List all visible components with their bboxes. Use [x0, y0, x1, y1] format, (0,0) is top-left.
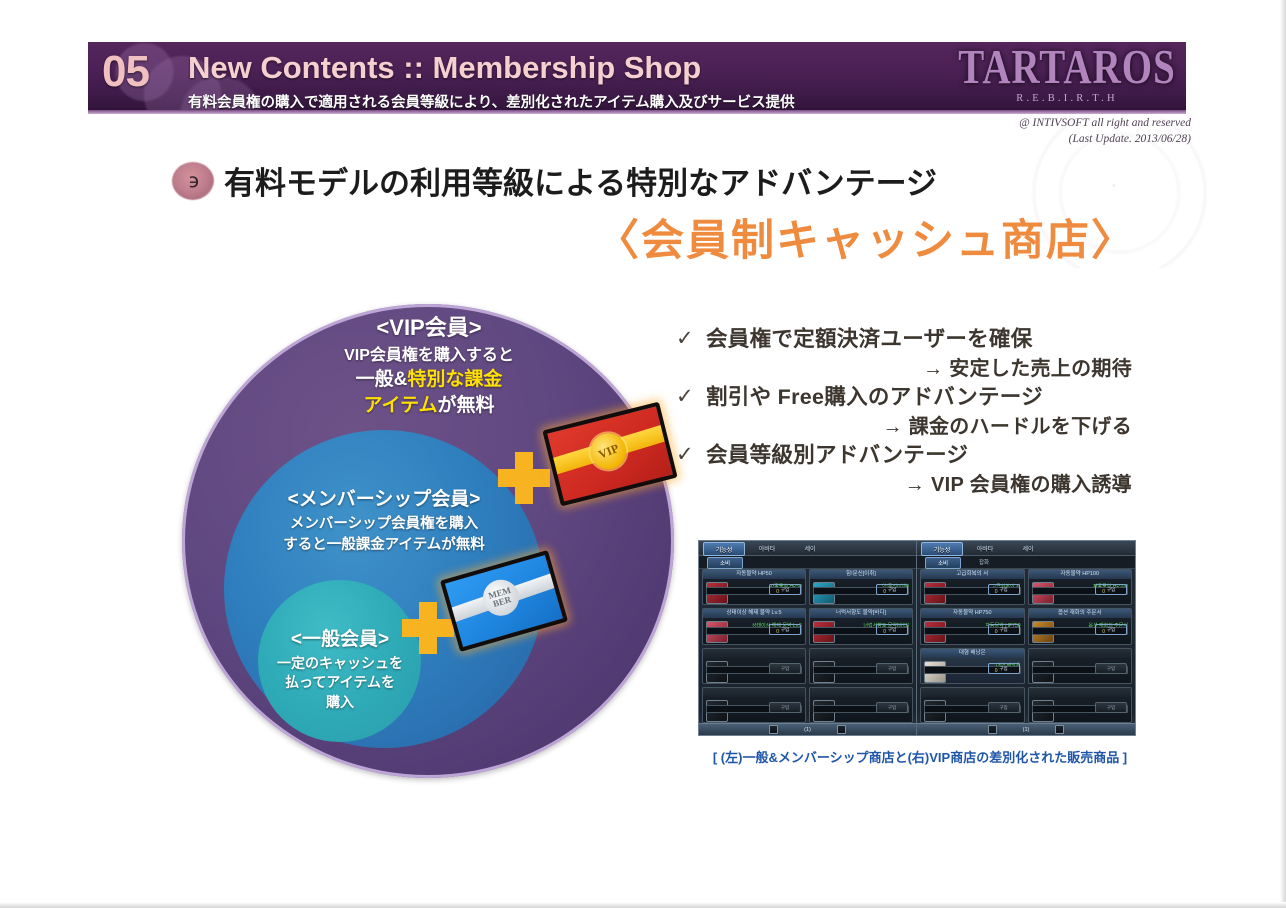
section-subheading: 〈会員制キャッシュ商店〉 — [596, 206, 1136, 268]
shop-item-title: 자동물약 HP100 — [1029, 570, 1132, 579]
membership-tier-title: <メンバーシップ会員> — [228, 488, 540, 513]
general-tier-line1: 一定のキャッシュを — [242, 654, 438, 672]
shop-item-buy-button[interactable]: 구입 — [769, 702, 801, 713]
benefit-item: ✓ 会員等級別アドバンテージ — [676, 442, 1146, 470]
shop-item-cell[interactable]: 힘!문신[이취] 힘!문신[이취] 0 구입 — [809, 569, 913, 605]
shop-item-title — [810, 649, 912, 658]
check-icon: ✓ — [676, 326, 706, 352]
general-tier-text: <一般会員> 一定のキャッシュを 払ってアイテムを 購入 — [242, 628, 438, 711]
next-page-button[interactable] — [1055, 725, 1064, 734]
tab-function-right[interactable]: 기능성 — [921, 542, 963, 556]
shop-item-buy-button[interactable]: 구입 — [988, 702, 1020, 713]
shop-item-cell[interactable]: 0 구입 — [809, 648, 913, 684]
tab-avatar-right[interactable]: 아바타 — [967, 542, 1003, 554]
shop-item-cell[interactable]: 옵션 재화의 주문서 옵션 재화의 주문서 0 구입 — [1028, 608, 1133, 644]
shop-item-cell[interactable]: 너럭서향도 물약[바디] 너럭서향도 물약[바디] 0 구입 — [809, 608, 913, 644]
shop-item-cell[interactable]: 0 구입 — [920, 687, 1025, 723]
slide-number: 05 — [102, 47, 149, 97]
shop-tab-row-right: 기능성 아바타 세이 — [917, 541, 1135, 556]
slide-header-bar: 05 New Contents :: Membership Shop 有料会員権… — [88, 42, 1186, 114]
logo-wordmark: TARTAROS — [958, 46, 1176, 90]
shop-pager-left: (1) — [699, 723, 916, 735]
membership-card-seal-icon: MEM BER — [479, 575, 524, 620]
benefit-text: 会員等級別アドバンテージ — [706, 442, 968, 470]
shop-item-title: 너럭서향도 물약[바디] — [810, 609, 912, 618]
tab-function-left[interactable]: 기능성 — [703, 542, 745, 556]
shop-item-buy-button[interactable]: 구입 — [1095, 663, 1127, 674]
prev-page-button[interactable] — [769, 725, 778, 734]
shop-item-cell[interactable]: 0 구입 — [1028, 648, 1133, 684]
screenshot-caption: [ (左)一般&メンバーシップ商店と(右)VIP商店の差別化された販売商品 ] — [690, 747, 1150, 766]
shop-pane-vip: 기능성 아바타 세이 소비 잡화 고급회복의 서 고급회복의 서 0 구입 자동… — [917, 541, 1135, 735]
shop-item-title — [1029, 649, 1132, 658]
page-title: New Contents :: Membership Shop — [188, 50, 701, 86]
membership-tier-line2: すると一般課金アイテムが無料 — [228, 536, 540, 556]
benefit-result: → 安定した売上の期待 — [676, 355, 1146, 384]
shop-item-cell[interactable]: 0 구입 — [702, 648, 806, 684]
page-number: (1) — [1023, 727, 1030, 733]
vip-tier-line2: 一般&特別な課金 — [276, 368, 582, 393]
shop-item-cell[interactable]: 상태이상 해제 물약 Lv.5 상태이상 해제 물약 Lv.5 0 구입 — [702, 608, 806, 644]
shop-subtab-row-left: 소비 — [699, 556, 916, 569]
vip-tier-title: <VIP会員> — [276, 314, 582, 343]
shop-screenshot: 기능성 아바타 세이 소비 자동물약 HP50 자동물약 HP50 0 구입 힘… — [698, 540, 1136, 736]
shop-item-cell[interactable]: 0 구입 — [1028, 687, 1133, 723]
shop-item-cell[interactable]: 0 구입 — [702, 687, 806, 723]
benefit-result: → 課金のハードルを下げる — [676, 413, 1146, 442]
shop-item-buy-button[interactable]: 구입 — [876, 584, 908, 595]
shop-item-cell[interactable]: 자동물약 HP50 자동물약 HP50 0 구입 — [702, 569, 806, 605]
shop-item-title: 대형 배낭은 — [921, 649, 1024, 658]
shop-item-buy-button[interactable]: 구입 — [988, 584, 1020, 595]
shop-item-buy-button[interactable]: 구입 — [876, 624, 908, 635]
shop-item-grid-left: 자동물약 HP50 자동물약 HP50 0 구입 힘!문신[이취] 힘!문신[이… — [702, 569, 913, 723]
vip-tier-text: <VIP会員> VIP会員権を購入すると 一般&特別な課金 アイテムが無料 — [276, 314, 582, 419]
page-edge-right — [1280, 0, 1286, 908]
benefit-item: ✓ 会員権で定額決済ユーザーを確保 — [676, 326, 1146, 354]
shop-item-buy-button[interactable]: 구입 — [1095, 624, 1127, 635]
tartaros-logo: TARTAROS R.E.B.I.R.T.H — [956, 44, 1178, 110]
shop-item-title — [703, 688, 805, 697]
benefits-list: ✓ 会員権で定額決済ユーザーを確保 → 安定した売上の期待 ✓ 割引や Free… — [676, 326, 1146, 500]
shop-item-title — [921, 688, 1024, 697]
shop-item-title: 상태이상 해제 물약 Lv.5 — [703, 609, 805, 618]
shop-item-title: 고급회복의 서 — [921, 570, 1024, 579]
shop-item-buy-button[interactable]: 구입 — [988, 663, 1020, 674]
membership-tier-diagram: <VIP会員> VIP会員権を購入すると 一般&特別な課金 アイテムが無料 <メ… — [180, 302, 680, 782]
benefit-item: ✓ 割引や Free購入のアドバンテージ — [676, 384, 1146, 412]
shop-item-title: 옵션 재화의 주문서 — [1029, 609, 1132, 618]
page-number: (1) — [804, 727, 811, 733]
shop-item-cell[interactable]: 고급회복의 서 고급회복의 서 0 구입 — [920, 569, 1025, 605]
general-tier-line3: 購入 — [242, 693, 438, 711]
tab-sei-left[interactable]: 세이 — [795, 542, 825, 554]
shop-item-title: 자동물약 HP50 — [703, 570, 805, 579]
membership-tier-line1: メンバーシップ会員権を購入 — [228, 515, 540, 535]
prev-page-button[interactable] — [988, 725, 997, 734]
shop-item-buy-button[interactable]: 구입 — [769, 584, 801, 595]
shop-item-cell[interactable]: 자동물약 HP750 자동물약 HP750 0 구입 — [920, 608, 1025, 644]
subtab-misc-right[interactable]: 잡화 — [967, 557, 1001, 567]
benefit-result: → VIP 会員権の購入誘導 — [676, 471, 1146, 500]
copyright-line-1: @ INTIVSOFT all right and reserved — [1019, 116, 1191, 132]
shop-item-buy-button[interactable]: 구입 — [1095, 702, 1127, 713]
shop-tab-row-left: 기능성 아바타 세이 — [699, 541, 916, 556]
vip-tier-line1: VIP会員権を購入すると — [276, 346, 582, 367]
shop-item-title — [703, 649, 805, 658]
page-edge-bottom — [0, 902, 1286, 908]
subtab-consume-right[interactable]: 소비 — [925, 557, 961, 569]
next-page-button[interactable] — [837, 725, 846, 734]
shop-item-cell[interactable]: 대형 배낭은 대형 배낭은 0 구입 — [920, 648, 1025, 684]
copyright-block: @ INTIVSOFT all right and reserved (Last… — [1019, 116, 1191, 147]
shop-item-title — [1029, 688, 1132, 697]
benefit-text: 割引や Free購入のアドバンテージ — [706, 384, 1043, 412]
benefit-text: 会員権で定額決済ユーザーを確保 — [706, 326, 1033, 354]
check-icon: ✓ — [676, 442, 706, 468]
subtab-consume-left[interactable]: 소비 — [707, 557, 743, 569]
shop-item-title: 자동물약 HP750 — [921, 609, 1024, 618]
shop-item-buy-button[interactable]: 구입 — [988, 624, 1020, 635]
shop-item-buy-button[interactable]: 구입 — [769, 624, 801, 635]
tab-sei-right[interactable]: 세이 — [1013, 542, 1043, 554]
heading-bullet-glyph-icon: ϶ — [182, 168, 206, 194]
shop-item-cell[interactable]: 0 구입 — [809, 687, 913, 723]
shop-item-buy-button[interactable]: 구입 — [1095, 584, 1127, 595]
check-icon: ✓ — [676, 384, 706, 410]
section-heading: 有料モデルの利用等級による特別なアドバンテージ — [224, 158, 937, 203]
page-subtitle: 有料会員権の購入で適用される会員等級により、差別化されたアイテム購入及びサービス… — [188, 91, 795, 112]
logo-tagline: R.E.B.I.R.T.H — [1016, 93, 1118, 104]
membership-tier-text: <メンバーシップ会員> メンバーシップ会員権を購入 すると一般課金アイテムが無料 — [228, 488, 540, 556]
shop-item-title — [810, 688, 912, 697]
tab-avatar-left[interactable]: 아바타 — [749, 542, 785, 554]
shop-item-grid-right: 고급회복의 서 고급회복의 서 0 구입 자동물약 HP100 자동물약 HP1… — [920, 569, 1132, 723]
shop-item-buy-button[interactable]: 구입 — [769, 663, 801, 674]
shop-subtab-row-right: 소비 잡화 — [917, 556, 1135, 569]
copyright-line-2: (Last Update. 2013/06/28) — [1019, 132, 1191, 148]
shop-pager-right: (1) — [917, 723, 1135, 735]
shop-item-buy-button[interactable]: 구입 — [876, 663, 908, 674]
general-tier-line2: 払ってアイテムを — [242, 673, 438, 691]
shop-item-cell[interactable]: 자동물약 HP100 자동물약 HP100 0 구입 — [1028, 569, 1133, 605]
shop-item-buy-button[interactable]: 구입 — [876, 702, 908, 713]
shop-pane-general: 기능성 아바타 세이 소비 자동물약 HP50 자동물약 HP50 0 구입 힘… — [699, 541, 917, 735]
shop-item-title: 힘!문신[이취] — [810, 570, 912, 579]
vip-tier-line3: アイテムが無料 — [276, 394, 582, 419]
slide-root: 05 New Contents :: Membership Shop 有料会員権… — [0, 0, 1286, 908]
